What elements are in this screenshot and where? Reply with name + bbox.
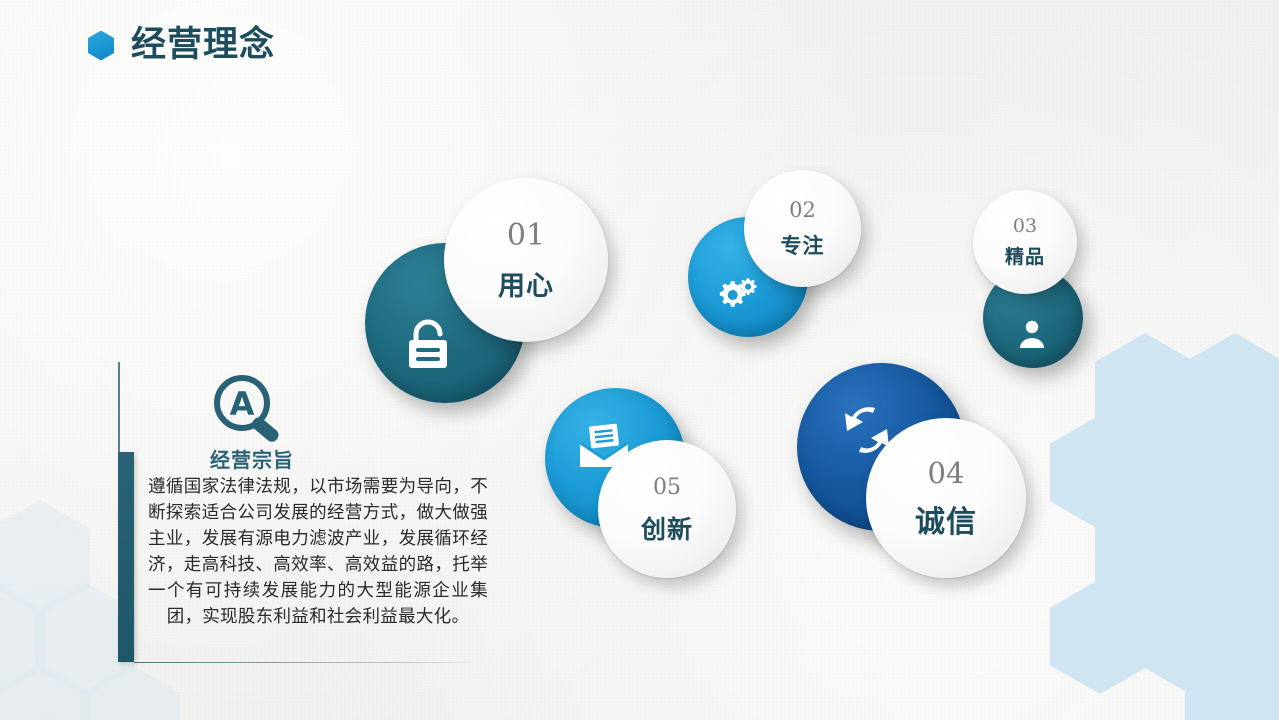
page-header: 经营理念	[88, 28, 275, 63]
item-01-badge[interactable]: 01 用心	[444, 178, 608, 342]
item-02-badge[interactable]: 02 专注	[744, 170, 861, 287]
hexagon-icon	[88, 31, 114, 61]
panel-bottom-rule	[134, 662, 472, 663]
item-04-badge[interactable]: 04 诚信	[866, 418, 1026, 578]
lock-icon	[402, 316, 454, 374]
item-01-number: 01	[507, 221, 545, 251]
page-title: 经营理念	[131, 28, 275, 63]
slide-canvas: 经营理念 A 经营宗旨 遵循国家法律法规，以市场需要为导向，不断探索适合公司发展…	[0, 0, 1279, 720]
purpose-label: 经营宗旨	[162, 444, 342, 473]
item-02-number: 02	[789, 200, 816, 221]
item-05-badge[interactable]: 05 创新	[598, 440, 736, 578]
person-icon	[1016, 317, 1048, 349]
purpose-heading-group: A 经营宗旨	[162, 372, 342, 473]
gears-icon	[714, 274, 760, 314]
item-05-number: 05	[653, 477, 681, 499]
magnifier-a-icon: A	[206, 372, 298, 442]
item-04-number: 04	[928, 459, 965, 488]
item-03-number: 03	[1013, 217, 1037, 236]
item-05-label: 创新	[641, 517, 693, 542]
item-02-label: 专注	[781, 236, 825, 257]
svg-text:A: A	[230, 385, 255, 423]
panel-accent-bar	[118, 452, 134, 662]
item-04-label: 诚信	[915, 508, 977, 538]
item-03-badge[interactable]: 03 精品	[973, 190, 1077, 294]
item-03-label: 精品	[1005, 248, 1045, 267]
panel-vertical-rule	[118, 362, 120, 458]
item-01-label: 用心	[498, 273, 554, 300]
purpose-body-text: 遵循国家法律法规，以市场需要为导向，不断探索适合公司发展的经营方式，做大做强主业…	[148, 474, 488, 630]
